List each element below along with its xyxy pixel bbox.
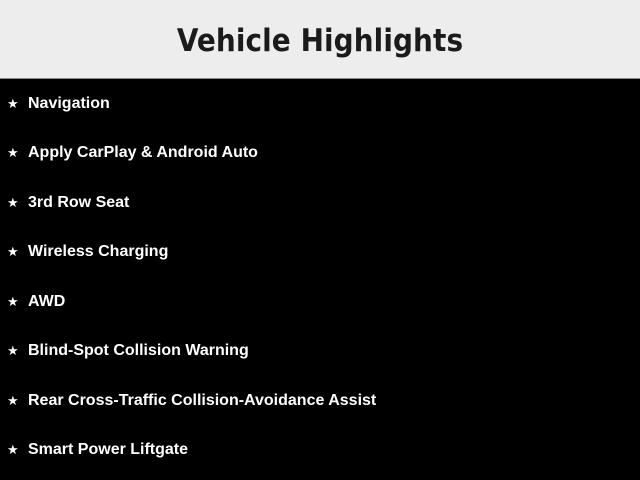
star-icon: ★ (7, 196, 21, 209)
star-icon: ★ (7, 394, 21, 407)
list-item: ★ Blind-Spot Collision Warning (0, 327, 640, 377)
star-icon: ★ (7, 146, 21, 159)
list-item: ★ Rear Cross-Traffic Collision-Avoidance… (0, 376, 640, 426)
star-icon: ★ (7, 97, 21, 110)
vehicle-highlights-list: ★ Navigation ★ Apply CarPlay & Android A… (0, 79, 640, 480)
list-item-label: Apply CarPlay & Android Auto (28, 145, 258, 161)
list-item-label: Rear Cross-Traffic Collision-Avoidance A… (28, 393, 376, 409)
list-item-label: Blind-Spot Collision Warning (28, 343, 249, 359)
page-title: Vehicle Highlights (0, 0, 640, 78)
star-icon: ★ (7, 443, 21, 456)
panel-header: Vehicle Highlights (0, 0, 640, 78)
star-icon: ★ (7, 245, 21, 258)
list-item: ★ Apply CarPlay & Android Auto (0, 129, 640, 179)
list-item: ★ 3rd Row Seat (0, 178, 640, 228)
list-item-label: Navigation (28, 96, 110, 112)
list-item: ★ Navigation (0, 79, 640, 129)
list-item-label: Wireless Charging (28, 244, 168, 260)
star-icon: ★ (7, 344, 21, 357)
vehicle-highlights-panel: Vehicle Highlights ★ Navigation ★ Apply … (0, 0, 640, 480)
list-item-label: Smart Power Liftgate (28, 442, 188, 458)
list-item-label: 3rd Row Seat (28, 195, 129, 211)
list-item: ★ Wireless Charging (0, 228, 640, 278)
list-item: ★ AWD (0, 277, 640, 327)
star-icon: ★ (7, 295, 21, 308)
list-item-label: AWD (28, 294, 65, 310)
list-item: ★ Smart Power Liftgate (0, 426, 640, 476)
